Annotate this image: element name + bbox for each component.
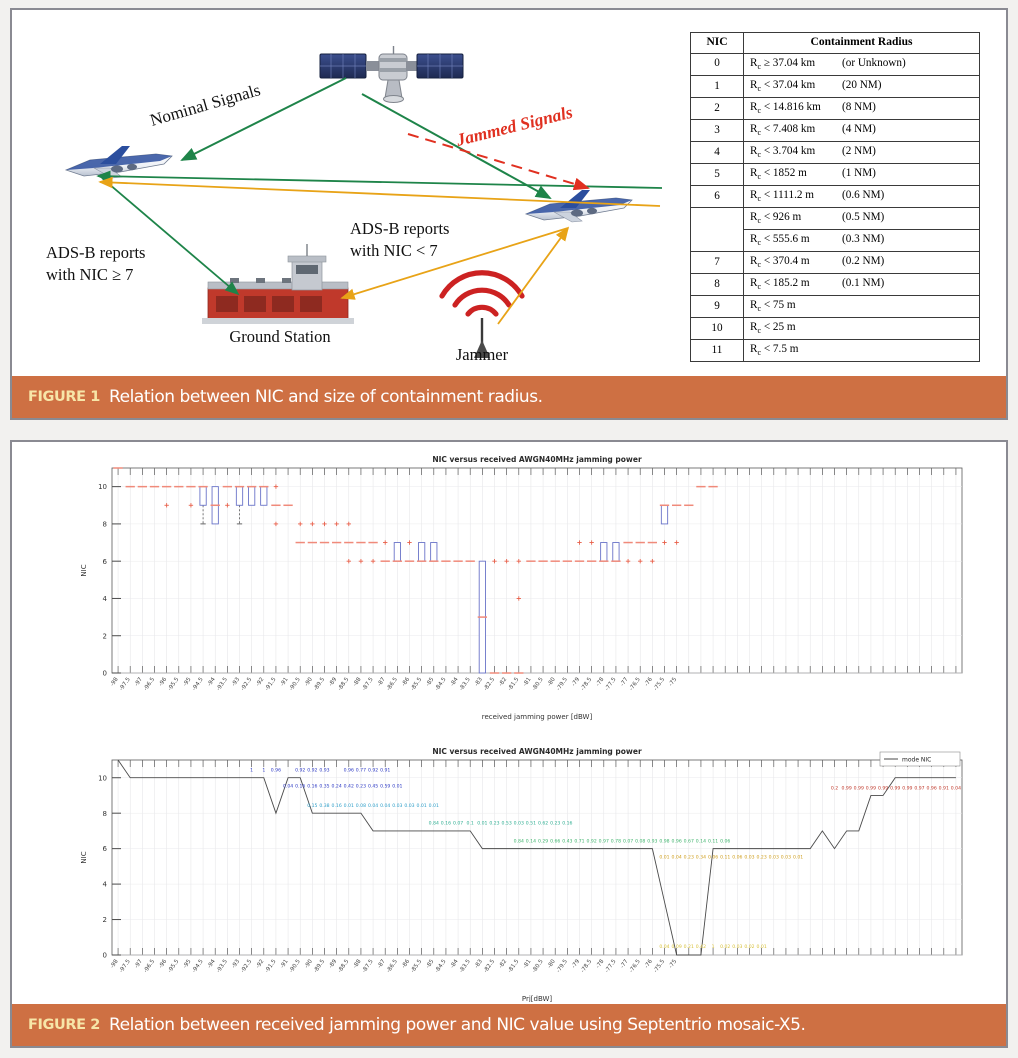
xtick-label: -92.5 — [240, 676, 253, 692]
xtick-label: -93 — [231, 676, 241, 687]
chart-title: NIC versus received AWGN40MHz jamming po… — [432, 455, 642, 464]
xtick-label: -76.5 — [629, 676, 642, 692]
ytick-label: 8 — [103, 521, 107, 529]
data-label: 0.84 — [514, 838, 524, 844]
data-label: 0.21 — [684, 944, 694, 950]
arrow-reports-nic-lt7 — [342, 228, 568, 298]
xtick-label: -80 — [547, 958, 557, 969]
data-label: 0.16 — [332, 803, 342, 809]
cell-containment-radius: Rc < 7.5 m — [744, 339, 980, 361]
xtick-label: -94 — [207, 958, 217, 969]
data-label: 0.77 — [356, 768, 366, 774]
boxplot-box — [393, 543, 402, 562]
xtick-label: -89.5 — [313, 958, 326, 974]
xtick-label: -89 — [328, 676, 338, 687]
xtick-label: -86.5 — [386, 958, 399, 974]
x-axis-label: Prj[dBW] — [522, 995, 553, 1002]
cell-nic: 1 — [691, 75, 744, 97]
data-label: 0.01 — [392, 783, 402, 789]
data-label: 0.24 — [332, 783, 342, 789]
cell-containment-radius: Rc < 75 m — [744, 295, 980, 317]
xtick-label: -79.5 — [556, 958, 569, 974]
xtick-label: -75 — [668, 676, 678, 687]
data-label: 0.03 — [781, 854, 791, 860]
arrow-nominal-to-left-aircraft — [182, 78, 346, 160]
xtick-label: -87 — [377, 676, 387, 687]
data-label: 0.15 — [307, 803, 317, 809]
label-adsb-bad-l1: ADS-B reports — [350, 219, 449, 238]
data-label: 0.99 — [890, 785, 900, 791]
label-adsb-bad-l2: with NIC < 7 — [350, 241, 438, 260]
table-row: 5Rc < 1852 m(1 NM) — [691, 163, 980, 185]
data-label: 0.03 — [732, 944, 742, 950]
table-row: 2Rc < 14.816 km(8 NM) — [691, 97, 980, 119]
data-label: 0.06 — [732, 854, 742, 860]
label-nominal-signals: Nominal Signals — [148, 80, 263, 130]
cell-nic: 5 — [691, 163, 744, 185]
arrow-jammed-signals — [408, 134, 588, 188]
data-label: 0.45 — [368, 783, 378, 789]
chart-boxplot: 0246810NICNIC versus received AWGN40MHz … — [80, 455, 962, 721]
xtick-label: -81 — [522, 676, 532, 687]
ytick-label: 4 — [103, 595, 108, 603]
figure1-caption: FIGURE 1 Relation between NIC and size o… — [12, 376, 1006, 418]
table-row: 4Rc < 3.704 km(2 NM) — [691, 141, 980, 163]
xtick-label: -81.5 — [507, 958, 520, 974]
xtick-label: -94.5 — [191, 676, 204, 692]
xtick-label: -88.5 — [337, 676, 350, 692]
data-label: 0.38 — [319, 803, 329, 809]
xtick-label: -96.5 — [143, 676, 156, 692]
ytick-label: 0 — [103, 670, 107, 678]
xtick-label: -79 — [571, 958, 581, 969]
xtick-label: -84 — [450, 958, 460, 969]
cell-nic: 7 — [691, 251, 744, 273]
cell-nic: 6 — [691, 185, 744, 207]
data-label: 0.01 — [344, 803, 354, 809]
data-label: 0.08 — [635, 838, 645, 844]
xtick-label: -94 — [207, 676, 217, 687]
data-label: 0.62 — [538, 821, 548, 827]
cell-nic — [691, 229, 744, 251]
data-label: 0.01 — [659, 854, 669, 860]
data-label: 0.53 — [502, 821, 512, 827]
data-label: 0.66 — [550, 838, 560, 844]
data-label: 0.78 — [611, 838, 621, 844]
data-label: 0.99 — [854, 785, 864, 791]
xtick-label: -95.5 — [167, 958, 180, 974]
table-row: 10Rc < 25 m — [691, 317, 980, 339]
data-label: 0.92 — [307, 768, 317, 774]
xtick-label: -84.5 — [434, 676, 447, 692]
data-label: 0.01 — [429, 803, 439, 809]
box — [613, 543, 619, 562]
xtick-label: -82 — [498, 959, 508, 970]
data-label: 0.51 — [526, 821, 536, 827]
xtick-label: -91.5 — [264, 676, 277, 692]
xtick-label: -78 — [595, 676, 605, 687]
boxplot-box — [611, 543, 620, 562]
data-label: 1 — [262, 768, 265, 774]
data-label: 0.91 — [939, 785, 949, 791]
box — [431, 543, 437, 562]
cell-containment-radius: Rc < 185.2 m(0.1 NM) — [744, 273, 980, 295]
data-label: 0.99 — [866, 785, 876, 791]
data-label: 0.23 — [356, 783, 366, 789]
data-label: 0.07 — [453, 821, 463, 827]
xtick-label: -96 — [158, 958, 168, 969]
cell-containment-radius: Rc < 1111.2 m(0.6 NM) — [744, 185, 980, 207]
data-label: 0.23 — [550, 821, 560, 827]
table-row: Rc < 926 m(0.5 NM) — [691, 207, 980, 229]
cell-containment-radius: Rc ≥ 37.04 km(or Unknown) — [744, 53, 980, 75]
ground-station-icon — [202, 244, 354, 324]
xtick-label: -75.5 — [653, 676, 666, 692]
data-label: 0.96 — [672, 838, 682, 844]
table-row: 1Rc < 37.04 km(20 NM) — [691, 75, 980, 97]
data-label: 0.08 — [356, 803, 366, 809]
data-label: 0.03 — [769, 854, 779, 860]
data-label: 1 — [712, 944, 715, 950]
ytick-label: 6 — [103, 558, 108, 566]
xtick-label: -95 — [182, 676, 192, 687]
data-label: 0.06 — [720, 838, 730, 844]
data-label: 0.99 — [902, 785, 912, 791]
data-label: 0.01 — [793, 854, 803, 860]
data-label: 0.71 — [574, 838, 584, 844]
xtick-label: -86 — [401, 958, 411, 969]
cell-containment-radius: Rc < 3.704 km(2 NM) — [744, 141, 980, 163]
data-label: 0.14 — [696, 838, 706, 844]
xtick-label: -94.5 — [191, 958, 204, 974]
data-label: 0.11 — [720, 854, 730, 860]
data-label: 0.09 — [672, 944, 682, 950]
table-row: 3Rc < 7.408 km(4 NM) — [691, 119, 980, 141]
data-label: 0.93 — [647, 838, 657, 844]
xtick-label: -95.5 — [167, 676, 180, 692]
xtick-label: -83 — [474, 676, 484, 687]
boxplot-box — [429, 543, 438, 562]
data-label: 0.03 — [514, 821, 524, 827]
xtick-label: -88 — [352, 958, 362, 969]
table-header-row: NIC Containment Radius — [691, 33, 980, 54]
xtick-label: -88.5 — [337, 958, 350, 974]
figure2-panel: 0246810NICNIC versus received AWGN40MHz … — [10, 440, 1008, 1048]
data-label: 0.99 — [878, 785, 888, 791]
data-label: 0.16 — [295, 783, 305, 789]
figure1-caption-tag: FIGURE 1 — [28, 389, 100, 405]
xtick-label: -85.5 — [410, 676, 423, 692]
data-label: 0.02 — [720, 944, 730, 950]
data-label: 0.04 — [672, 854, 682, 860]
data-label: 0.07 — [623, 838, 633, 844]
table-row: 6Rc < 1111.2 m(0.6 NM) — [691, 185, 980, 207]
data-label: 0.96 — [344, 768, 354, 774]
page-root: Nominal Signals Jammed Signals ADS-B rep… — [0, 0, 1018, 1058]
xtick-label: -92 — [255, 959, 265, 970]
data-label: 1 — [250, 768, 253, 774]
data-label: 0.92 — [587, 838, 597, 844]
boxplot-box — [259, 487, 268, 506]
data-label: 0.23 — [684, 854, 694, 860]
label-jammer: Jammer — [456, 345, 509, 364]
box — [236, 487, 242, 506]
xtick-label: -80.5 — [531, 676, 544, 692]
xtick-label: -76 — [644, 958, 654, 969]
xtick-label: -93.5 — [216, 676, 229, 692]
xtick-label: -90.5 — [289, 958, 302, 974]
label-jammed-signals: Jammed Signals — [453, 102, 575, 151]
xtick-label: -93 — [231, 958, 241, 969]
cell-containment-radius: Rc < 14.816 km(8 NM) — [744, 97, 980, 119]
ytick-label: 4 — [103, 881, 108, 889]
xtick-label: -82.5 — [483, 676, 496, 692]
data-label: 0.04 — [283, 783, 293, 789]
xtick-label: -93.5 — [216, 958, 229, 974]
col-header-nic: NIC — [691, 33, 744, 54]
figure2-caption-tag: FIGURE 2 — [28, 1017, 100, 1033]
cell-nic: 2 — [691, 97, 744, 119]
cell-containment-radius: Rc < 926 m(0.5 NM) — [744, 207, 980, 229]
data-label: 0.04 — [951, 785, 961, 791]
data-label: 0.01 — [757, 944, 767, 950]
data-label: 0.34 — [696, 854, 706, 860]
xtick-label: -88 — [352, 676, 362, 687]
data-label: 0.16 — [562, 821, 572, 827]
data-label: 0.04 — [368, 803, 378, 809]
xtick-label: -85.5 — [410, 958, 423, 974]
data-label: 0.98 — [659, 838, 669, 844]
cell-containment-radius: Rc < 37.04 km(20 NM) — [744, 75, 980, 97]
xtick-label: -87.5 — [361, 676, 374, 692]
data-label: 0.42 — [344, 783, 354, 789]
xtick-label: -84 — [450, 676, 460, 687]
cell-nic — [691, 207, 744, 229]
data-label: 0.92 — [295, 768, 305, 774]
data-label: 0.97 — [914, 785, 924, 791]
data-label: 0.96 — [271, 768, 281, 774]
figure1-panel: Nominal Signals Jammed Signals ADS-B rep… — [10, 8, 1008, 420]
box — [661, 505, 667, 524]
ytick-label: 10 — [98, 483, 107, 491]
xtick-label: -87 — [377, 958, 387, 969]
table-row: 9Rc < 75 m — [691, 295, 980, 317]
xtick-label: -92.5 — [240, 958, 253, 974]
xtick-label: -78.5 — [580, 958, 593, 974]
xtick-label: -83.5 — [459, 958, 472, 974]
xtick-label: -76.5 — [629, 958, 642, 974]
data-label: 0.59 — [380, 783, 390, 789]
figure2-charts-area: 0246810NICNIC versus received AWGN40MHz … — [12, 442, 1006, 1002]
data-label: 0.16 — [441, 821, 451, 827]
ytick-label: 10 — [98, 774, 107, 782]
xtick-label: -95 — [182, 958, 192, 969]
xtick-label: -77.5 — [604, 958, 617, 974]
data-label: 0.99 — [842, 785, 852, 791]
nic-vs-jamming-power-charts: 0246810NICNIC versus received AWGN40MHz … — [12, 442, 1006, 1002]
cell-nic: 3 — [691, 119, 744, 141]
data-label: 0.04 — [659, 944, 669, 950]
cell-nic: 4 — [691, 141, 744, 163]
ytick-label: 2 — [103, 632, 107, 640]
data-label: 0.43 — [562, 838, 572, 844]
chart-title: NIC versus received AWGN40MHz jamming po… — [432, 747, 642, 756]
boxplot-box — [478, 561, 487, 673]
cell-nic: 0 — [691, 53, 744, 75]
xtick-label: -77.5 — [604, 676, 617, 692]
xtick-label: -77 — [620, 676, 630, 687]
adsb-jamming-diagram: Nominal Signals Jammed Signals ADS-B rep… — [20, 16, 686, 368]
xtick-label: -90 — [304, 958, 314, 969]
xtick-label: -83 — [474, 958, 484, 969]
xtick-label: -90 — [304, 676, 314, 687]
table-body: 0Rc ≥ 37.04 km(or Unknown)1Rc < 37.04 km… — [691, 53, 980, 361]
xtick-label: -89 — [328, 958, 338, 969]
boxplot-box — [247, 487, 256, 506]
table-row: 11Rc < 7.5 m — [691, 339, 980, 361]
xtick-label: -78.5 — [580, 676, 593, 692]
data-label: 0.11 — [708, 838, 718, 844]
table-row: 8Rc < 185.2 m(0.1 NM) — [691, 273, 980, 295]
data-label: 0.03 — [744, 854, 754, 860]
data-label: 0.91 — [380, 768, 390, 774]
legend-label: mode NIC — [902, 757, 931, 764]
xtick-label: -87.5 — [361, 958, 374, 974]
boxplot-box — [599, 543, 608, 562]
data-label: 0.29 — [538, 838, 548, 844]
cell-containment-radius: Rc < 7.408 km(4 NM) — [744, 119, 980, 141]
ytick-label: 2 — [103, 916, 107, 924]
aircraft-jammed-icon — [526, 190, 632, 222]
box — [200, 487, 206, 506]
figure1-caption-text: Relation between NIC and size of contain… — [109, 387, 543, 407]
x-axis-label: received jamming power [dBW] — [482, 713, 593, 721]
xtick-label: -90.5 — [289, 676, 302, 692]
data-label: 0.03 — [404, 803, 414, 809]
data-label: 0.2 — [831, 785, 838, 791]
figure1-diagram-area: Nominal Signals Jammed Signals ADS-B rep… — [12, 10, 1006, 370]
cell-containment-radius: Rc < 1852 m(1 NM) — [744, 163, 980, 185]
xtick-label: -97 — [134, 676, 144, 687]
xtick-label: -81.5 — [507, 676, 520, 692]
box — [601, 543, 607, 562]
figure2-caption: FIGURE 2 Relation between received jammi… — [12, 1004, 1006, 1046]
data-label: 0.03 — [392, 803, 402, 809]
xtick-label: -86.5 — [386, 676, 399, 692]
box — [418, 543, 424, 562]
data-label: 0.06 — [708, 854, 718, 860]
y-axis-label: NIC — [80, 564, 88, 576]
data-label: 0.93 — [319, 768, 329, 774]
data-label: 0.23 — [757, 854, 767, 860]
cell-containment-radius: Rc < 555.6 m(0.3 NM) — [744, 229, 980, 251]
data-label: 0.01 — [417, 803, 427, 809]
cell-nic: 9 — [691, 295, 744, 317]
box — [394, 543, 400, 562]
xtick-label: -80.5 — [531, 958, 544, 974]
y-axis-label: NIC — [80, 851, 88, 863]
xtick-label: -96.5 — [143, 958, 156, 974]
boxplot-box — [417, 543, 426, 562]
cell-containment-radius: Rc < 370.4 m(0.2 NM) — [744, 251, 980, 273]
arrow-jammer-to-aircraft — [498, 228, 568, 324]
xtick-label: -96 — [158, 676, 168, 687]
data-label: 0.04 — [380, 803, 390, 809]
xtick-label: -91 — [280, 958, 290, 969]
cell-nic: 11 — [691, 339, 744, 361]
table-row: Rc < 555.6 m(0.3 NM) — [691, 229, 980, 251]
data-label: 0.35 — [319, 783, 329, 789]
aircraft-nominal-icon — [66, 146, 172, 178]
data-label: 0.92 — [368, 768, 378, 774]
box — [248, 487, 254, 506]
data-label: 0.23 — [489, 821, 499, 827]
table-row: 0Rc ≥ 37.04 km(or Unknown) — [691, 53, 980, 75]
xtick-label: -89.5 — [313, 676, 326, 692]
xtick-label: -92 — [255, 677, 265, 688]
xtick-label: -97.5 — [119, 676, 132, 692]
xtick-label: -83.5 — [459, 676, 472, 692]
col-header-containment-radius: Containment Radius — [744, 33, 980, 54]
xtick-label: -98 — [110, 676, 120, 687]
xtick-label: -91 — [280, 676, 290, 687]
ytick-label: 0 — [103, 952, 107, 960]
xtick-label: -98 — [110, 958, 120, 969]
ytick-label: 8 — [103, 810, 107, 818]
xtick-label: -86 — [401, 676, 411, 687]
xtick-label: -76 — [644, 676, 654, 687]
data-label: 0.97 — [599, 838, 609, 844]
xtick-label: -80 — [547, 676, 557, 687]
cell-nic: 10 — [691, 317, 744, 339]
xtick-label: -79 — [571, 676, 581, 687]
data-label: 0.96 — [927, 785, 937, 791]
xtick-label: -85 — [425, 958, 435, 969]
data-label: 0.16 — [307, 783, 317, 789]
box — [261, 487, 267, 506]
chart-modeline: 0246810NICNIC versus received AWGN40MHz … — [80, 747, 962, 1002]
satellite-icon — [320, 46, 463, 103]
xtick-label: -81 — [522, 958, 532, 969]
nic-containment-radius-table: NIC Containment Radius 0Rc ≥ 37.04 km(or… — [690, 32, 980, 362]
data-label: 0.02 — [744, 944, 754, 950]
xtick-label: -77 — [620, 958, 630, 969]
label-adsb-good-l1: ADS-B reports — [46, 243, 145, 262]
xtick-label: -97.5 — [119, 958, 132, 974]
xtick-label: -79.5 — [556, 676, 569, 692]
data-label: 0.42 — [696, 944, 706, 950]
table-row: 7Rc < 370.4 m(0.2 NM) — [691, 251, 980, 273]
data-label: 0.67 — [684, 838, 694, 844]
legend: mode NIC — [880, 752, 960, 766]
boxplot-box — [211, 487, 220, 524]
data-label: 0.01 — [477, 821, 487, 827]
xtick-label: -84.5 — [434, 958, 447, 974]
data-label: 0.84 — [429, 821, 439, 827]
xtick-label: -97 — [134, 958, 144, 969]
xtick-label: -91.5 — [264, 958, 277, 974]
cell-containment-radius: Rc < 25 m — [744, 317, 980, 339]
xtick-label: -85 — [425, 676, 435, 687]
data-label: 0.14 — [526, 838, 536, 844]
xtick-label: -82.5 — [483, 958, 496, 974]
ytick-label: 6 — [103, 845, 108, 853]
xtick-label: -82 — [498, 677, 508, 688]
xtick-label: -75 — [668, 958, 678, 969]
figure2-caption-text: Relation between received jamming power … — [109, 1015, 805, 1035]
xtick-label: -78 — [595, 958, 605, 969]
xtick-label: -75.5 — [653, 958, 666, 974]
